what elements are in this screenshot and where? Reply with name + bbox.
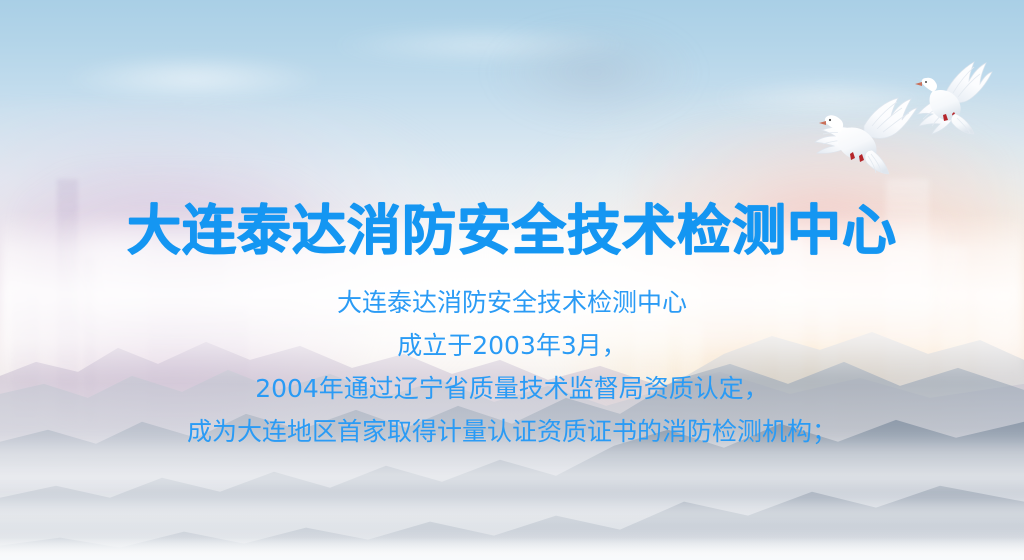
body-line-4: 成为大连地区首家取得计量认证资质证书的消防检测机构； bbox=[0, 410, 1024, 453]
page-title: 大连泰达消防安全技术检测中心 bbox=[0, 203, 1024, 260]
body-paragraph: 大连泰达消防安全技术检测中心 成立于2003年3月， 2004年通过辽宁省质量技… bbox=[0, 281, 1024, 453]
body-line-3: 2004年通过辽宁省质量技术监督局资质认定， bbox=[0, 367, 1024, 410]
body-line-2: 成立于2003年3月， bbox=[0, 324, 1024, 367]
mist-layer bbox=[0, 496, 1024, 527]
mist-foreground bbox=[0, 537, 1024, 560]
body-line-1: 大连泰达消防安全技术检测中心 bbox=[0, 281, 1024, 324]
slide-canvas: 大连泰达消防安全技术检测中心 大连泰达消防安全技术检测中心 成立于2003年3月… bbox=[0, 0, 1024, 560]
mist-layer bbox=[0, 460, 1024, 493]
